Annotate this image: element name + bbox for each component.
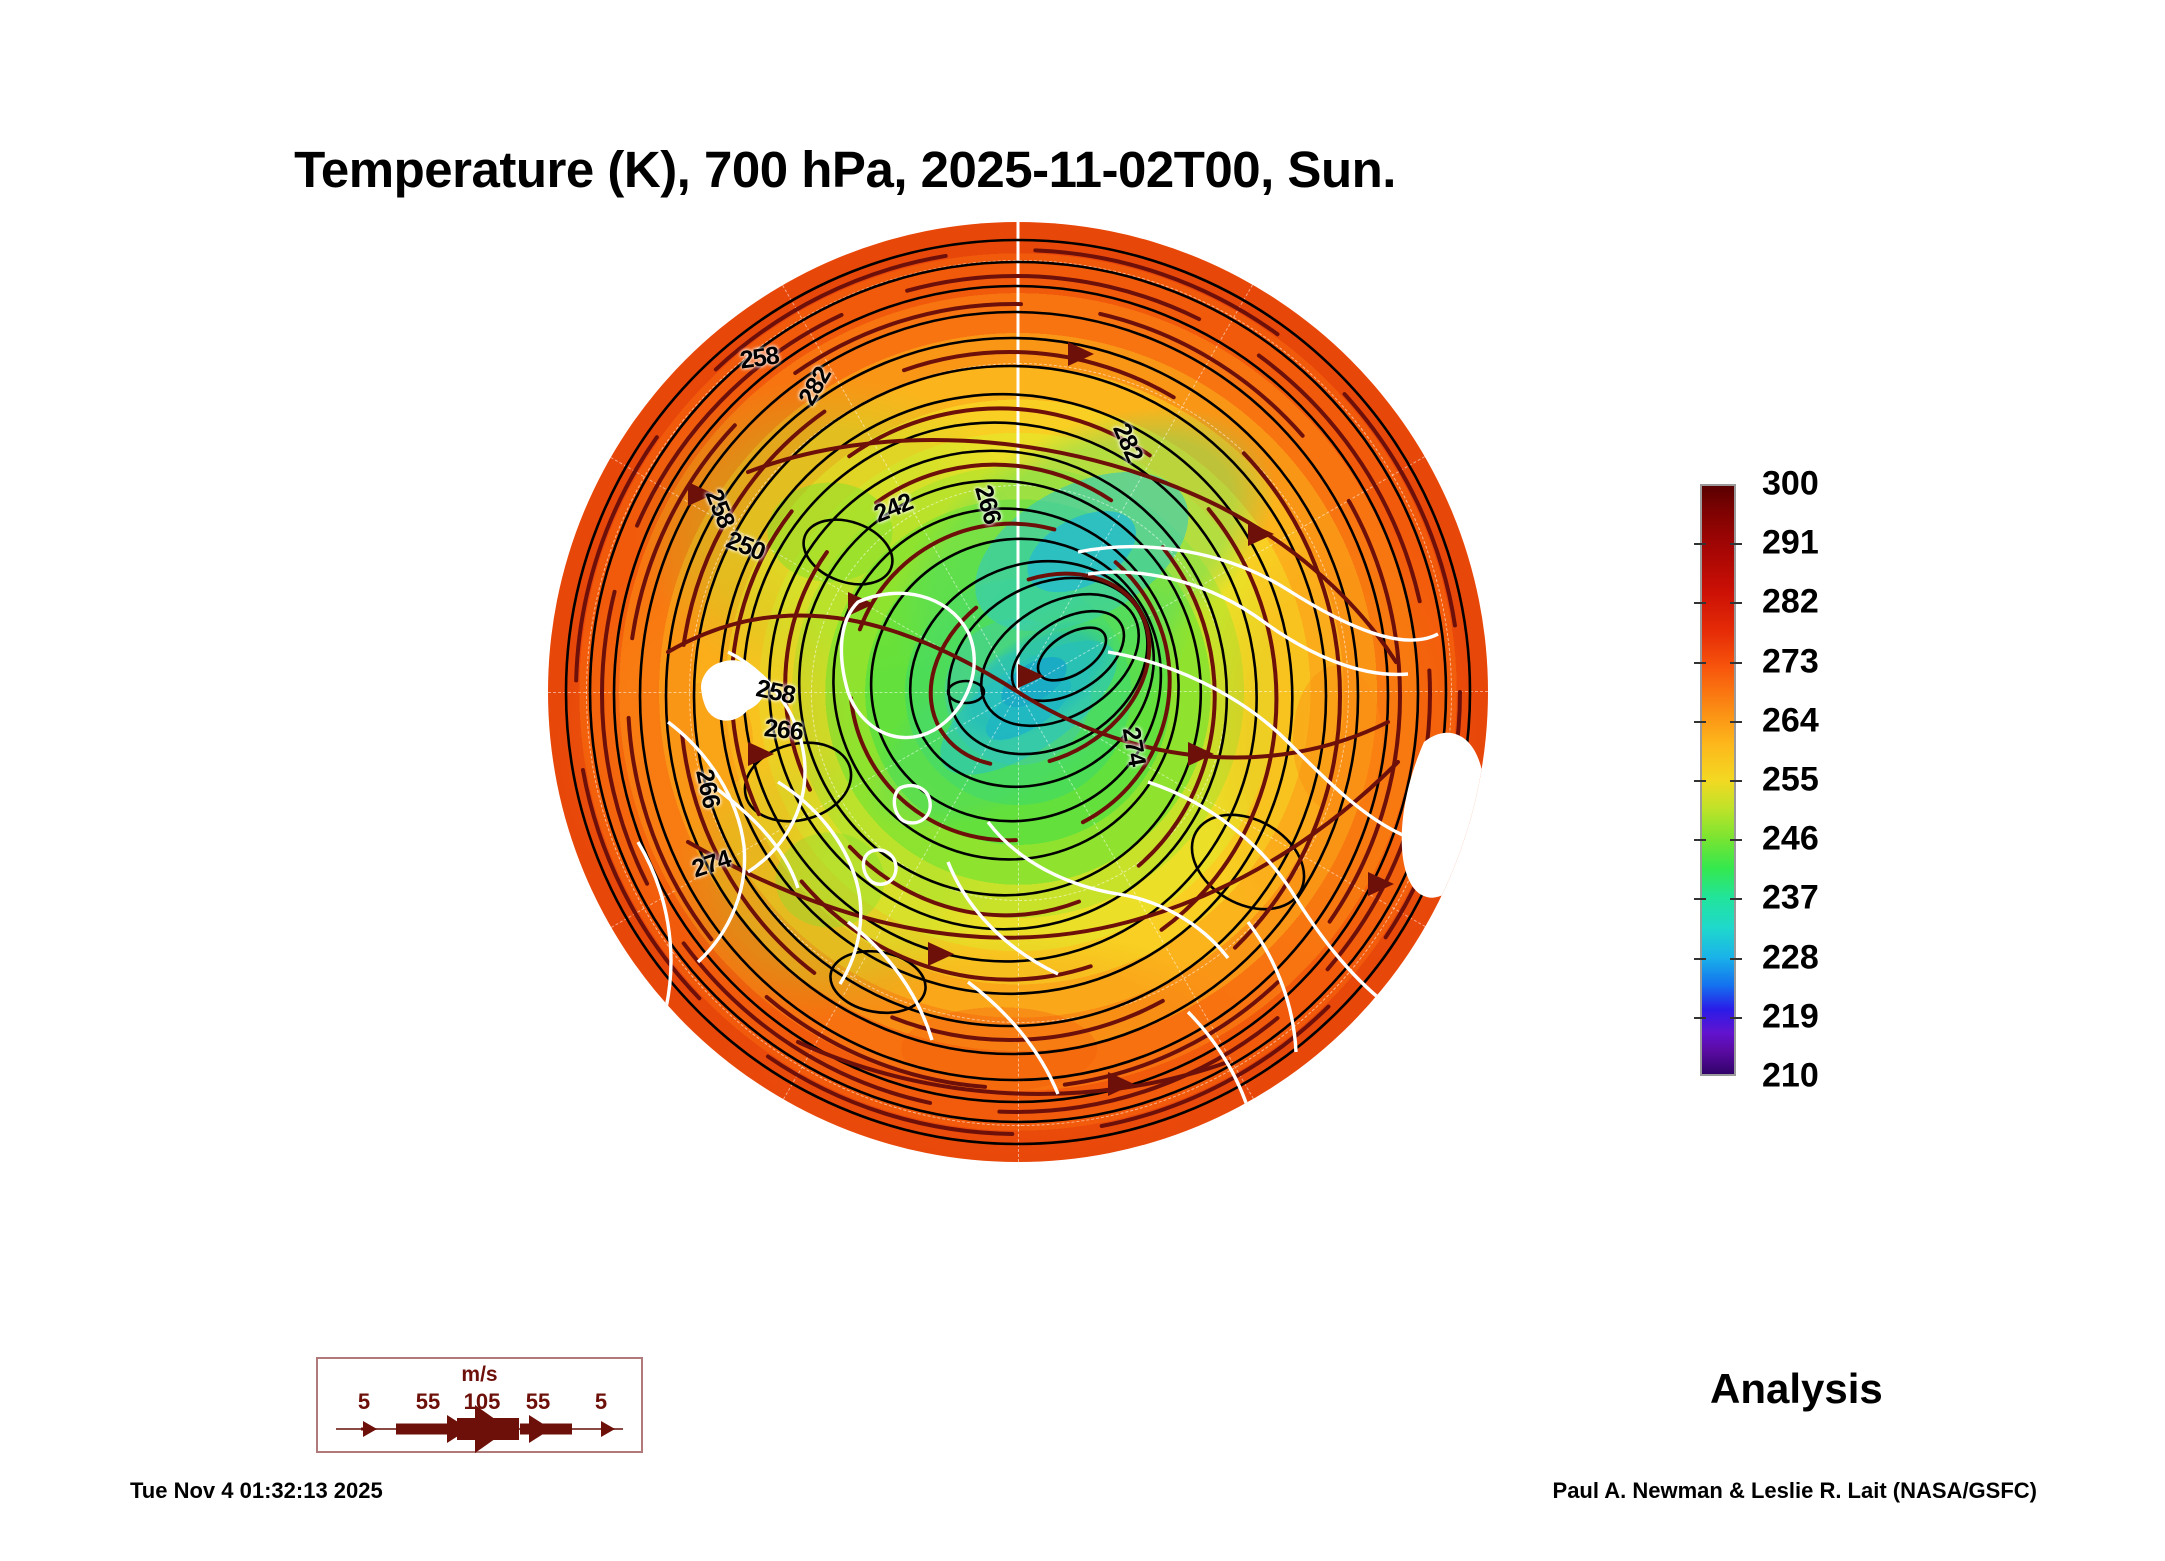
colorbar-tick [1694,1017,1706,1019]
colorbar-tick-label: 282 [1762,583,1819,622]
wind-value: 55 [526,1389,550,1415]
colorbar: 300291282273264255246237228219210 [1700,484,2000,1079]
wind-value: 5 [595,1389,607,1415]
polar-map: 282 274 266 258 258 250 242 266 258 266 … [548,222,1488,1162]
colorbar-tick [1730,1017,1742,1019]
contour-label: 258 [738,341,780,375]
colorbar-tick [1730,839,1742,841]
generation-timestamp: Tue Nov 4 01:32:13 2025 [130,1478,383,1504]
wind-arrow-head-5 [601,1421,615,1437]
colorbar-tick-label: 291 [1762,524,1819,563]
colorbar-tick [1694,662,1706,664]
wind-value: 5 [358,1389,370,1415]
colorbar-tick [1730,958,1742,960]
wind-arrow-head-4 [529,1415,551,1443]
colorbar-tick [1694,543,1706,545]
colorbar-tick [1730,602,1742,604]
colorbar-tick [1694,958,1706,960]
wind-arrow-head-1 [363,1421,377,1437]
colorbar-tick-label: 300 [1762,465,1819,504]
colorbar-tick-label: 210 [1762,1057,1819,1096]
contour-label: 266 [763,714,805,747]
page-title: Temperature (K), 700 hPa, 2025-11-02T00,… [0,140,1690,199]
colorbar-tick-label: 255 [1762,761,1819,800]
wind-arrow-head-3 [475,1405,509,1453]
colorbar-tick-label: 219 [1762,997,1819,1036]
globe-disc: 282 274 266 258 258 250 242 266 258 266 … [548,222,1488,1162]
colorbar-tick [1730,780,1742,782]
colorbar-tick [1730,543,1742,545]
colorbar-tick-label: 264 [1762,701,1819,740]
colorbar-tick-label: 237 [1762,879,1819,918]
author-credit: Paul A. Newman & Leslie R. Lait (NASA/GS… [1553,1478,2037,1504]
colorbar-tick [1730,721,1742,723]
colorbar-tick [1694,898,1706,900]
colorbar-tick [1694,721,1706,723]
wind-speed-legend: m/s 5 55 105 55 5 [316,1357,643,1453]
wind-unit-label: m/s [318,1363,641,1387]
analysis-label: Analysis [1710,1365,1883,1413]
colorbar-tick-label: 273 [1762,642,1819,681]
wind-arrow-shaft-2 [396,1424,448,1435]
colorbar-tick-label: 246 [1762,820,1819,859]
wind-value: 55 [416,1389,440,1415]
colorbar-tick [1730,662,1742,664]
colorbar-tick-label: 228 [1762,938,1819,977]
colorbar-tick [1730,898,1742,900]
colorbar-tick [1694,602,1706,604]
colorbar-tick [1694,780,1706,782]
colorbar-tick [1694,839,1706,841]
terrain-mask [548,222,1488,1162]
